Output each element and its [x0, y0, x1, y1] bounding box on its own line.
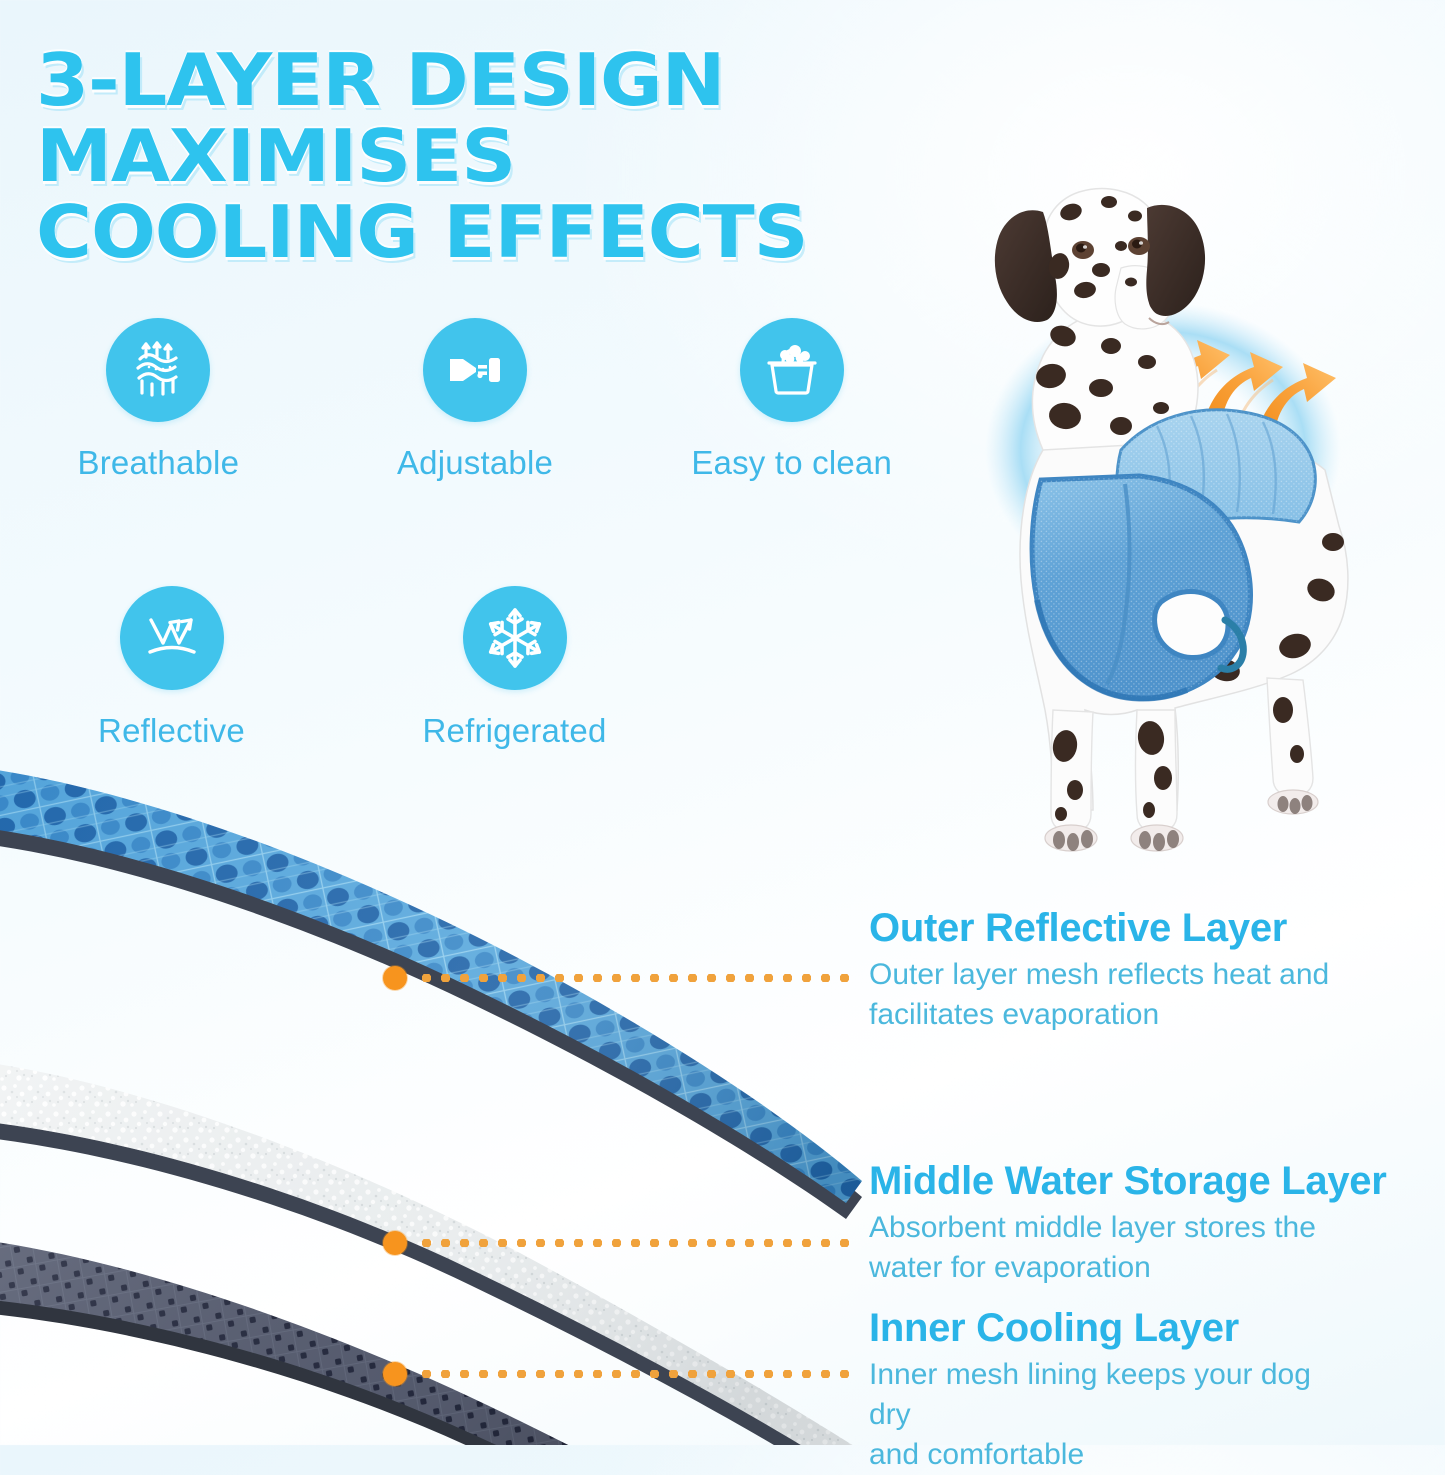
callout-body-line-2: facilitates evaporation — [869, 995, 1329, 1035]
feature-easy-to-clean[interactable]: Easy to clean — [633, 318, 950, 482]
feature-refrigerated[interactable]: Refrigerated — [343, 586, 686, 750]
leader-line-middle — [383, 1231, 853, 1255]
callout-body: Absorbent middle layer stores the water … — [869, 1208, 1339, 1288]
callout-body: Inner mesh lining keeps your dog dry and… — [869, 1355, 1339, 1475]
feature-reflective[interactable]: Reflective — [0, 586, 343, 750]
wash-bucket-suds-icon — [740, 318, 844, 422]
leader-anchor-dot — [383, 966, 407, 990]
infographic-canvas: 3-Layer Design Maximises Cooling Effects — [0, 0, 1445, 1445]
callout-outer-reflective-layer: Outer Reflective Layer Outer layer mesh … — [869, 905, 1329, 1035]
leader-anchor-dot — [383, 1231, 407, 1255]
feature-breathable[interactable]: Breathable — [0, 318, 317, 482]
product-photo-dog-in-cooling-vest — [925, 150, 1445, 890]
leader-line-outer — [383, 966, 853, 990]
leader-dotted-line — [417, 974, 853, 982]
leader-line-inner — [383, 1362, 853, 1386]
callout-body-line-2: water for evaporation — [869, 1248, 1339, 1288]
callout-middle-water-storage-layer: Middle Water Storage Layer Absorbent mid… — [869, 1158, 1387, 1288]
callout-body-line-1: Outer layer mesh reflects heat and — [869, 955, 1329, 995]
breathable-fabric-airflow-icon — [106, 318, 210, 422]
callout-title: Inner Cooling Layer — [869, 1305, 1339, 1351]
feature-row-1: Breathable Adjustable — [0, 318, 950, 482]
dog-ear-right — [1146, 205, 1205, 316]
feature-label: Breathable — [78, 444, 240, 482]
reflect-arrows-surface-icon — [120, 586, 224, 690]
callout-title: Middle Water Storage Layer — [869, 1158, 1387, 1204]
leader-dotted-line — [417, 1370, 853, 1378]
callout-title: Outer Reflective Layer — [869, 905, 1329, 951]
snowflake-icon — [463, 586, 567, 690]
callout-inner-cooling-layer: Inner Cooling Layer Inner mesh lining ke… — [869, 1305, 1339, 1475]
feature-label: Easy to clean — [691, 444, 892, 482]
callout-body-line-1: Absorbent middle layer stores the — [869, 1208, 1339, 1248]
three-layer-material-stack — [0, 745, 880, 1445]
callout-body-line-1: Inner mesh lining keeps your dog dry — [869, 1355, 1339, 1435]
buckle-clasp-icon — [423, 318, 527, 422]
feature-row-2: Reflective — [0, 586, 950, 750]
feature-list: Breathable Adjustable — [0, 318, 950, 750]
feature-adjustable[interactable]: Adjustable — [317, 318, 634, 482]
headline-line-1: 3-Layer Design Maximises — [36, 38, 724, 198]
leader-dotted-line — [417, 1239, 853, 1247]
callout-body-line-2: and comfortable — [869, 1435, 1339, 1475]
leader-anchor-dot — [383, 1362, 407, 1386]
callout-body: Outer layer mesh reflects heat and facil… — [869, 955, 1329, 1035]
feature-label: Adjustable — [397, 444, 553, 482]
